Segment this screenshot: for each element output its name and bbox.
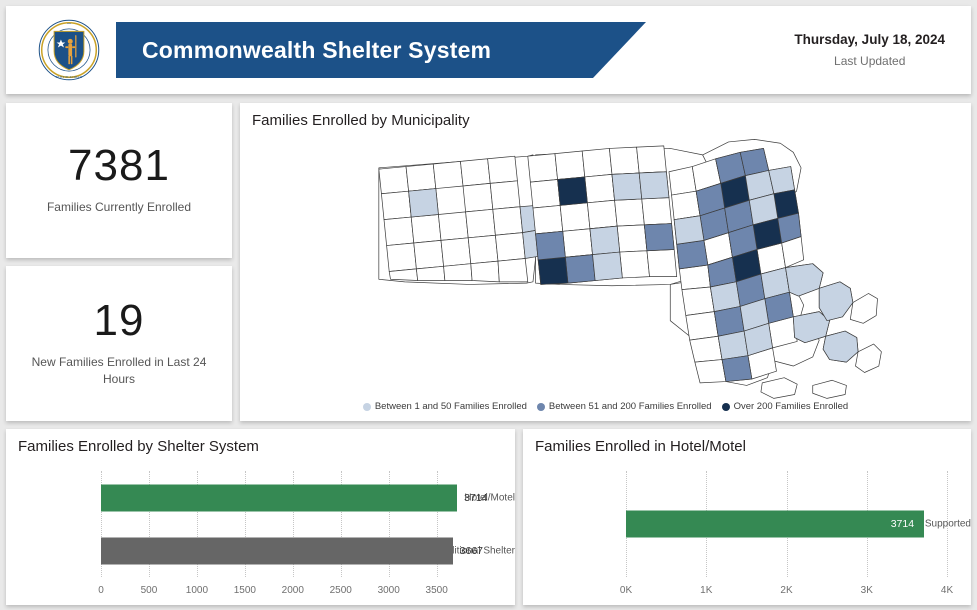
legend-item[interactable]: Between 51 and 200 Families Enrolled: [537, 401, 712, 412]
bar[interactable]: [626, 511, 924, 538]
top-row: 7381 Families Currently Enrolled 19 New …: [6, 103, 971, 421]
bar[interactable]: [101, 484, 457, 511]
page-title: Commonwealth Shelter System: [142, 37, 491, 64]
svg-text:PETIT PLACIDAM: PETIT PLACIDAM: [56, 75, 83, 79]
bar-chart-hotel-motel[interactable]: 0K1K2K3K4KProvider Supported3714: [523, 455, 971, 605]
kpi-value: 19: [94, 299, 145, 343]
x-axis-tick-label: 1K: [700, 585, 712, 596]
legend-swatch-icon: [363, 403, 371, 411]
last-updated-label: Last Updated: [794, 52, 945, 70]
legend-item[interactable]: Over 200 Families Enrolled: [722, 401, 849, 412]
chart-title: Families Enrolled in Hotel/Motel: [523, 429, 971, 455]
bar-value-label: 3714: [891, 518, 914, 530]
chart-card-families-in-hotel-motel: Families Enrolled in Hotel/Motel 0K1K2K3…: [523, 429, 971, 605]
bar[interactable]: [101, 537, 453, 564]
page-header: •••• PETIT PLACIDAM Commonwealth Shelter…: [6, 6, 971, 94]
last-updated-block: Thursday, July 18, 2024 Last Updated: [794, 30, 945, 70]
legend-label: Between 1 and 50 Families Enrolled: [375, 401, 527, 412]
last-updated-date: Thursday, July 18, 2024: [794, 30, 945, 50]
legend-swatch-icon: [537, 403, 545, 411]
legend-swatch-icon: [722, 403, 730, 411]
x-axis-tick-label: 1500: [234, 585, 256, 596]
x-axis-tick-label: 0K: [620, 585, 632, 596]
legend-item[interactable]: Between 1 and 50 Families Enrolled: [363, 401, 527, 412]
bar-value-label: 3667: [460, 545, 483, 557]
x-axis-tick-label: 2000: [282, 585, 304, 596]
kpi-card-families-enrolled: 7381 Families Currently Enrolled: [6, 103, 232, 258]
x-axis-tick-label: 3000: [378, 585, 400, 596]
kpi-value: 7381: [68, 144, 170, 188]
bar-chart-shelter-system[interactable]: 0500100015002000250030003500Hotel/Motel3…: [6, 455, 515, 605]
bar-value-label: 3714: [464, 492, 487, 504]
x-axis-tick-label: 3500: [426, 585, 448, 596]
x-axis-tick-label: 500: [141, 585, 158, 596]
massachusetts-choropleth-map[interactable]: [240, 129, 971, 401]
kpi-card-new-families-24h: 19 New Families Enrolled in Last 24 Hour…: [6, 266, 232, 421]
title-banner: Commonwealth Shelter System: [116, 22, 646, 78]
kpi-column: 7381 Families Currently Enrolled 19 New …: [6, 103, 232, 421]
chart-card-families-by-shelter-system: Families Enrolled by Shelter System 0500…: [6, 429, 515, 605]
kpi-label: New Families Enrolled in Last 24 Hours: [20, 354, 218, 389]
x-axis-tick-label: 3K: [861, 585, 873, 596]
map-card-families-by-municipality: Families Enrolled by Municipality: [240, 103, 971, 421]
chart-title: Families Enrolled by Shelter System: [6, 429, 515, 455]
bottom-row: Families Enrolled by Shelter System 0500…: [6, 429, 971, 605]
legend-label: Between 51 and 200 Families Enrolled: [549, 401, 712, 412]
dashboard-page: •••• PETIT PLACIDAM Commonwealth Shelter…: [0, 0, 977, 610]
x-axis-tick-label: 0: [98, 585, 104, 596]
legend-label: Over 200 Families Enrolled: [734, 401, 849, 412]
map-legend: Between 1 and 50 Families Enrolled Betwe…: [240, 401, 971, 421]
map-title: Families Enrolled by Municipality: [240, 103, 971, 129]
x-axis-tick-label: 2K: [780, 585, 792, 596]
x-axis-tick-label: 4K: [941, 585, 953, 596]
svg-text:••••: ••••: [67, 22, 71, 26]
x-axis-tick-label: 2500: [330, 585, 352, 596]
massachusetts-state-seal-icon: •••• PETIT PLACIDAM: [38, 19, 100, 81]
x-axis-tick-label: 1000: [186, 585, 208, 596]
kpi-label: Families Currently Enrolled: [47, 199, 191, 216]
